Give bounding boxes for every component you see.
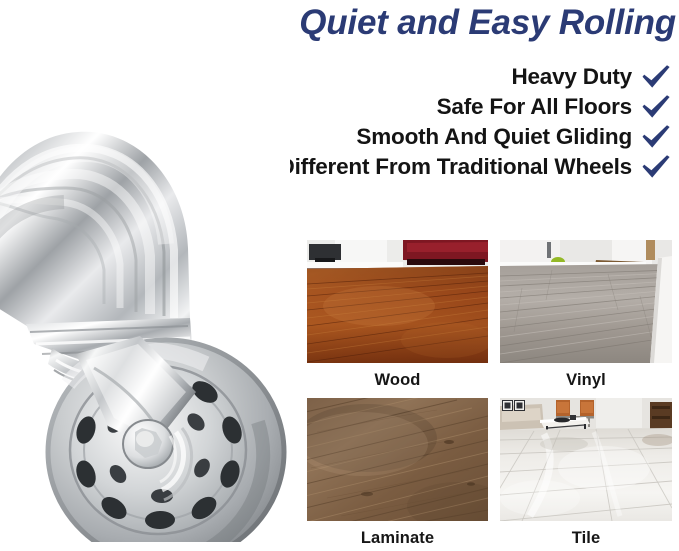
floor-sample-label: Vinyl bbox=[500, 367, 672, 393]
floor-sample-label: Laminate bbox=[307, 525, 488, 551]
floor-sample-tile-photo bbox=[500, 398, 672, 521]
floor-sample-vinyl-photo bbox=[500, 240, 672, 363]
floor-sample-label: Tile bbox=[500, 525, 672, 551]
feature-item-heavy-duty: Heavy Duty bbox=[511, 62, 671, 92]
feature-label: Smooth And Quiet Gliding bbox=[356, 122, 632, 152]
checkmark-icon bbox=[641, 94, 671, 120]
floor-sample-tile: Tile bbox=[500, 398, 672, 551]
feature-label: Heavy Duty bbox=[511, 62, 632, 92]
checkmark-icon bbox=[641, 64, 671, 90]
checkmark-icon bbox=[641, 124, 671, 150]
feature-item-different-from-traditional-wheels: Different From Traditional Wheels bbox=[279, 152, 671, 182]
floor-sample-wood: Wood bbox=[307, 240, 488, 393]
floor-sample-vinyl: Vinyl bbox=[500, 240, 672, 393]
feature-label: Safe For All Floors bbox=[437, 92, 632, 122]
floor-sample-label: Wood bbox=[307, 367, 488, 393]
feature-label: Different From Traditional Wheels bbox=[279, 152, 632, 182]
floor-sample-laminate: Laminate bbox=[307, 398, 488, 551]
floor-sample-laminate-photo bbox=[307, 398, 488, 521]
feature-item-safe-for-all-floors: Safe For All Floors bbox=[437, 92, 671, 122]
page-title: Quiet and Easy Rolling bbox=[186, 1, 676, 45]
floor-sample-wood-photo bbox=[307, 240, 488, 363]
caster-wheel-product-image bbox=[0, 92, 290, 542]
checkmark-icon bbox=[641, 154, 671, 180]
feature-item-smooth-and-quiet-gliding: Smooth And Quiet Gliding bbox=[356, 122, 671, 152]
